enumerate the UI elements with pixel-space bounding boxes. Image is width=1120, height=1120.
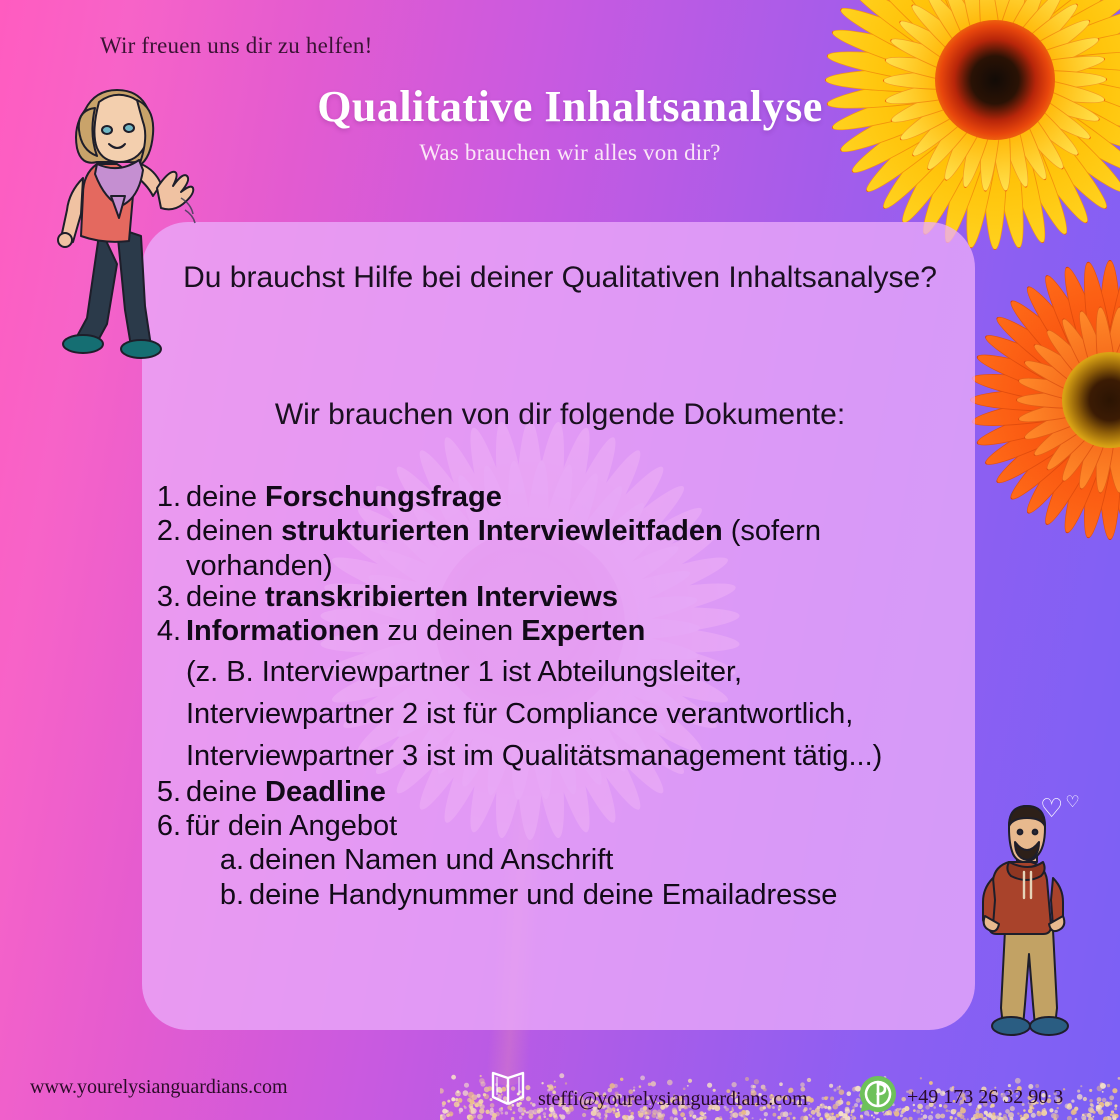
waving-woman-avatar	[45, 78, 220, 368]
whatsapp-icon	[858, 1074, 898, 1120]
list-item-text: deine transkribierten Interviews	[186, 582, 978, 613]
footer-phone-label: +49 173 26 32 90 3	[907, 1086, 1063, 1109]
documents-list: 1.deine Forschungsfrage2.deinen struktur…	[148, 482, 978, 914]
page-title: Qualitative Inhaltsanalyse	[200, 82, 940, 133]
list-item: 1.deine Forschungsfrage	[148, 482, 978, 513]
list-item: a.deinen Namen und Anschrift	[148, 845, 978, 876]
page-subtitle: Was brauchen wir alles von dir?	[200, 140, 940, 166]
list-item-note: Interviewpartner 2 ist für Compliance ve…	[148, 693, 978, 735]
list-marker: 3.	[148, 582, 186, 613]
heart-decorations: ♡♡	[1040, 795, 1078, 821]
list-item-text: deine Forschungsfrage	[186, 482, 978, 513]
list-item: b.deine Handynummer und deine Emailadres…	[148, 880, 978, 911]
list-item-note: Interviewpartner 3 ist im Qualitätsmanag…	[148, 735, 978, 777]
list-marker: a.	[208, 845, 249, 876]
list-marker: 6.	[148, 811, 186, 842]
intro-text: Du brauchst Hilfe bei deiner Qualitative…	[175, 258, 945, 298]
list-item-text: für dein Angebot	[186, 811, 978, 842]
orange-gerbera-flower	[960, 250, 1120, 550]
list-marker: 1.	[148, 482, 186, 513]
list-item-continuation: vorhanden)	[148, 551, 978, 582]
footer: www.yourelysianguardians.com steffi@your…	[0, 1060, 1120, 1120]
list-item-text: Informationen zu deinen Experten	[186, 616, 978, 647]
poster-canvas: ♡♡ Wir freuen uns dir zu helfen! Qualita…	[0, 0, 1120, 1120]
need-heading: Wir brauchen von dir folgende Dokumente:	[175, 398, 945, 432]
list-marker: b.	[208, 880, 249, 911]
list-item: 5.deine Deadline	[148, 777, 978, 808]
heart-icon: ♡	[1040, 793, 1063, 823]
list-marker: 5.	[148, 777, 186, 808]
title-block: Qualitative Inhaltsanalyse Was brauchen …	[200, 82, 940, 166]
standing-man-avatar	[975, 800, 1085, 1040]
list-item-text: deinen strukturierten Interviewleitfaden…	[186, 516, 978, 547]
list-item: 3.deine transkribierten Interviews	[148, 582, 978, 613]
list-item: 4.Informationen zu deinen Experten	[148, 616, 978, 647]
tagline: Wir freuen uns dir zu helfen!	[100, 33, 372, 59]
list-item-note: (z. B. Interviewpartner 1 ist Abteilungs…	[148, 651, 978, 693]
footer-email-label: steffi@yourelysianguardians.com	[538, 1088, 808, 1111]
list-marker: 4.	[148, 616, 186, 647]
list-item-text: deine Deadline	[186, 777, 978, 808]
list-item: 2.deinen strukturierten Interviewleitfad…	[148, 516, 978, 547]
footer-email[interactable]: steffi@yourelysianguardians.com	[487, 1076, 808, 1120]
footer-website-label: www.yourelysianguardians.com	[30, 1076, 288, 1099]
footer-website[interactable]: www.yourelysianguardians.com	[30, 1076, 288, 1099]
heart-icon-small: ♡	[1065, 794, 1079, 811]
yellow-flower-core	[935, 20, 1055, 140]
list-item-text: deine Handynummer und deine Emailadresse	[249, 880, 978, 911]
list-item-text: deinen Namen und Anschrift	[249, 845, 978, 876]
footer-phone[interactable]: +49 173 26 32 90 3	[858, 1074, 1063, 1120]
list-item: 6.für dein Angebot	[148, 811, 978, 842]
list-marker: 2.	[148, 516, 186, 547]
open-book-icon	[487, 1076, 529, 1120]
